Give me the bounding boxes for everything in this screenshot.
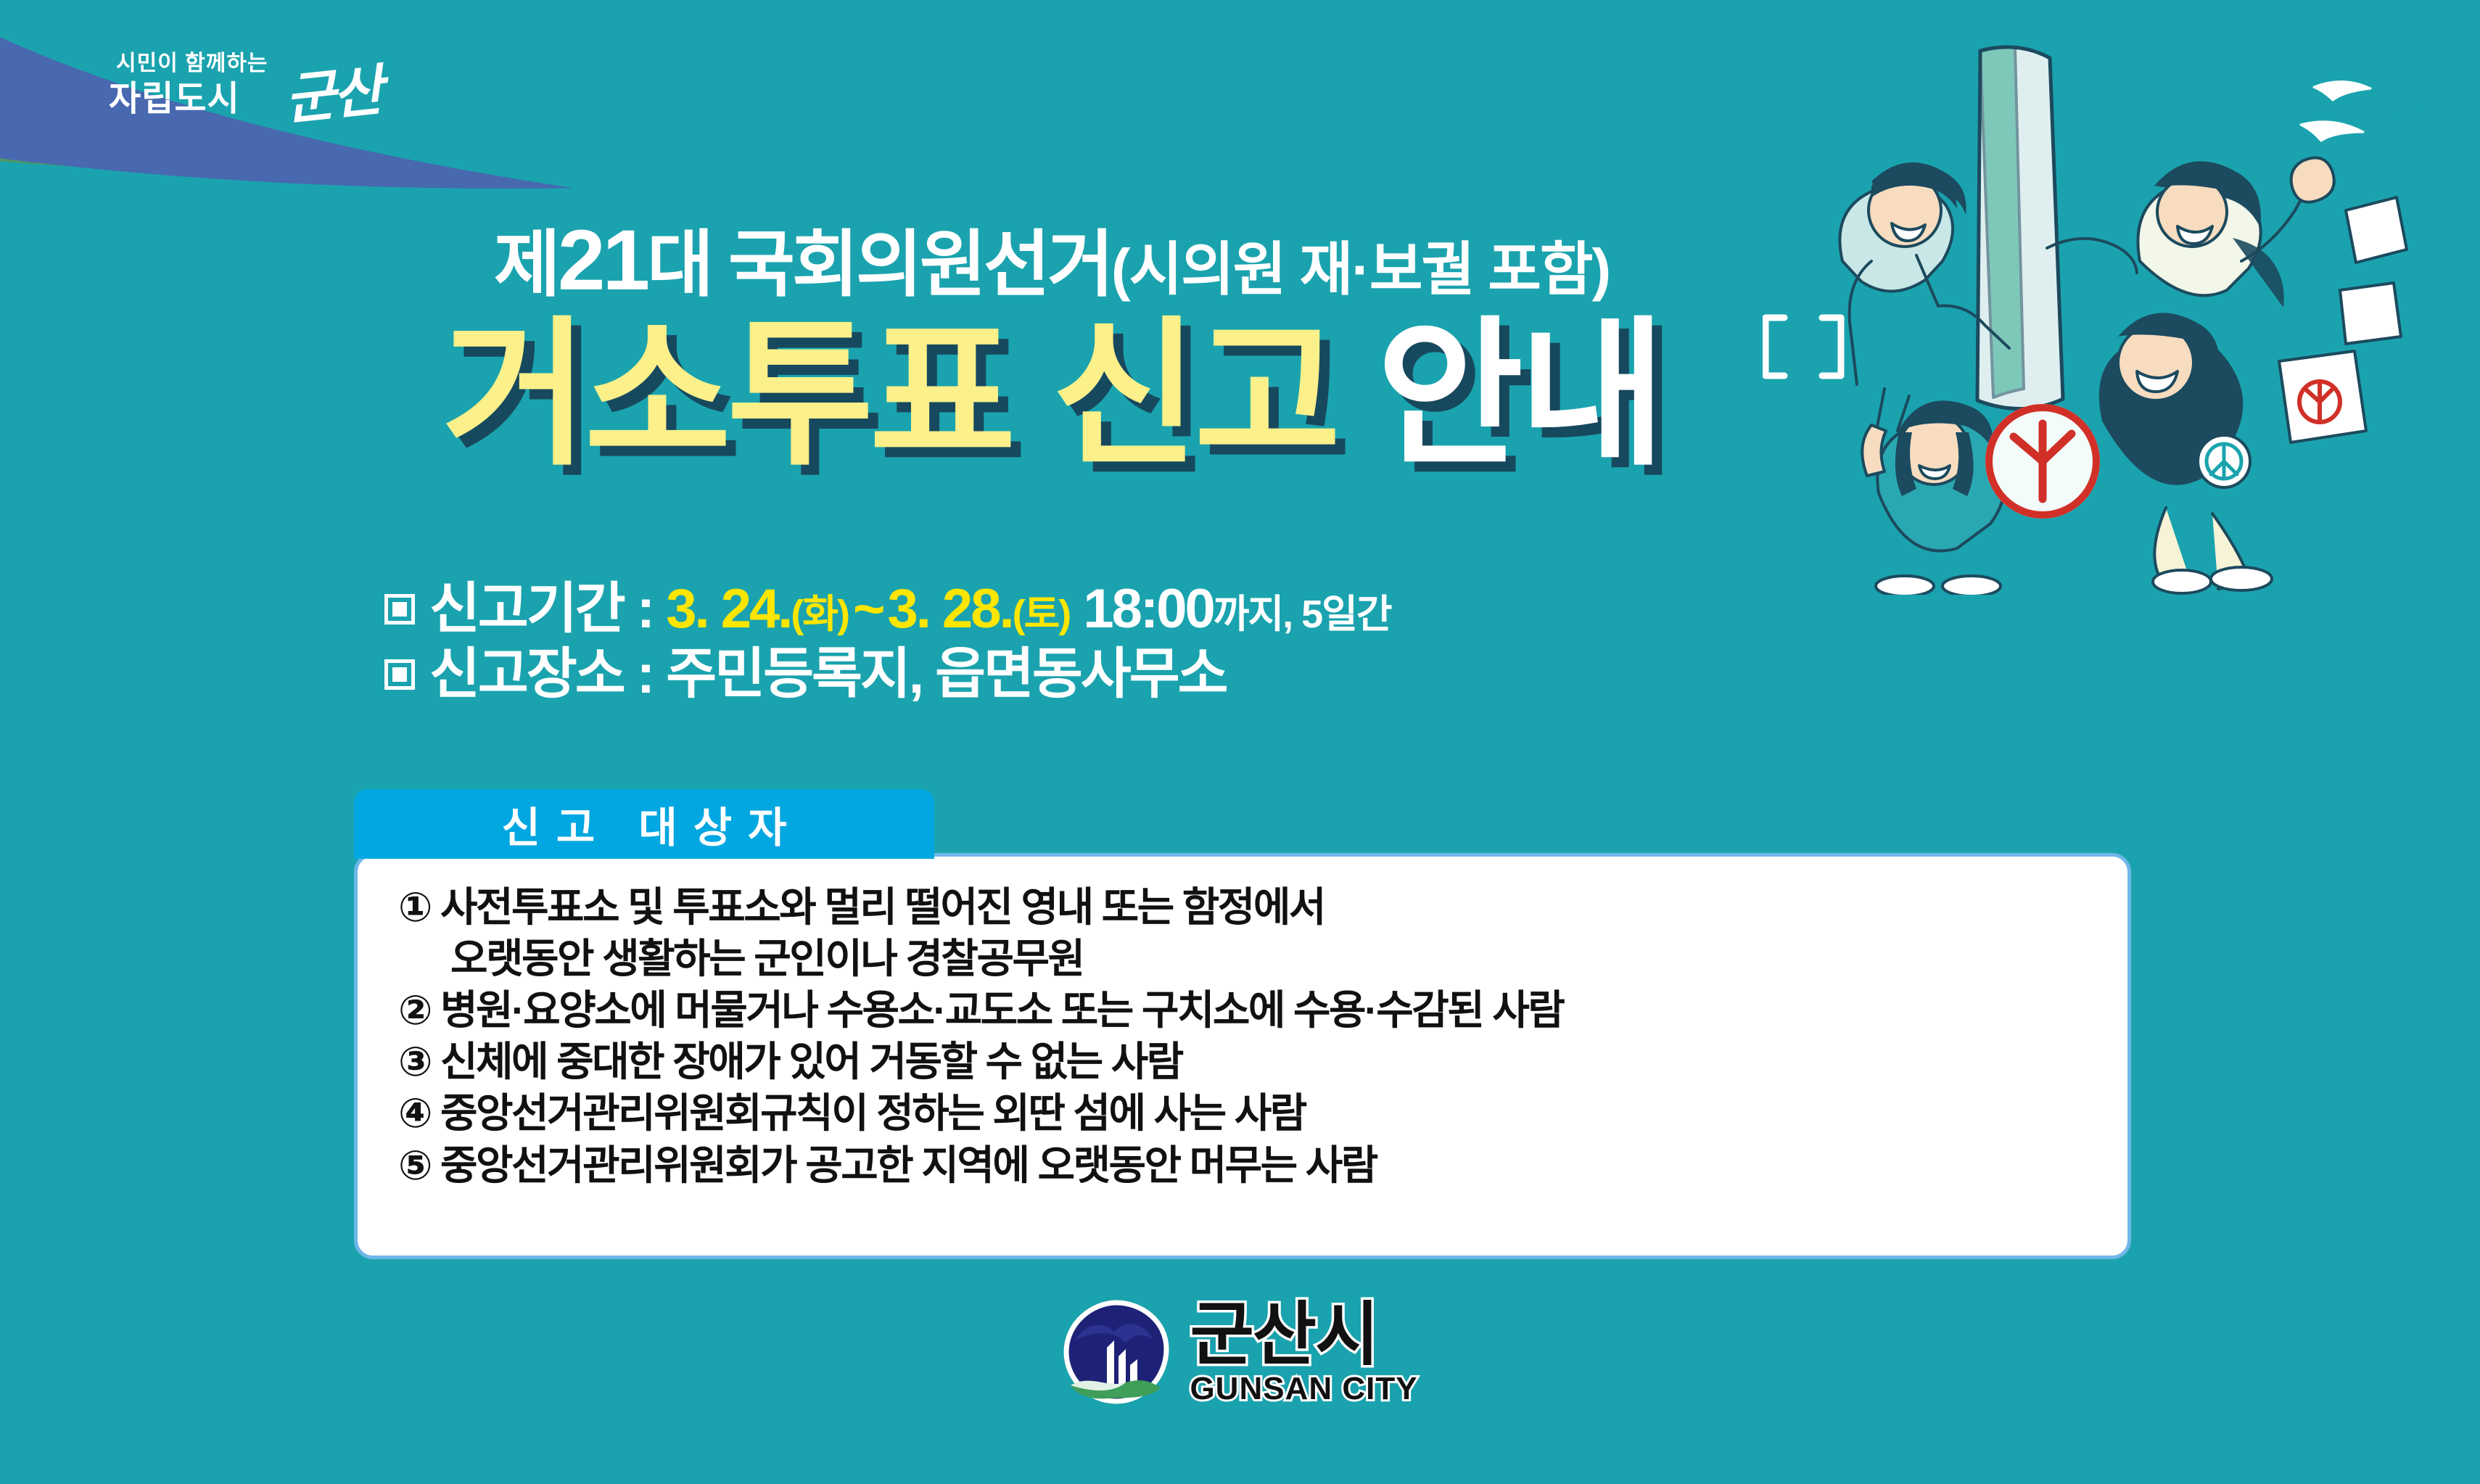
place-label: 신고장소 : [429,642,653,707]
list-item-text-cont: 오랫동안 생활하는 군인이나 경찰공무원 [398,933,2098,984]
list-item: ② 병원·요양소에 머물거나 수용소·교도소 또는 구치소에 수용·수감된 사람 [398,984,2098,1036]
list-item: ⑤ 중앙선거관리위원회가 공고한 지역에 오랫동안 머무는 사람 [398,1139,2098,1191]
square-bullet-icon [384,594,415,624]
headline-main-part3: 안내 [1377,305,1662,484]
list-item: ① 사전투표소 및 투표소와 멀리 떨어진 영내 또는 함정에서 오랫동안 생활… [398,881,2098,984]
period-start-date: 3. 24. [666,577,791,642]
list-item-text: 신체에 중대한 장애가 있어 거동할 수 없는 사람 [440,1039,1182,1084]
period-end-day: (토) [1013,592,1071,638]
gunsan-logo-en: GUNSAN CITY [1190,1373,1417,1405]
headline-main-part1: 거소투표 [442,305,1012,484]
gunsan-ci-logo: 시민이 함께하는 자립도시 군산 [109,45,421,132]
poster-root: 시민이 함께하는 자립도시 군산 [0,0,2480,1484]
period-label: 신고기간 : [429,577,653,642]
headline-sub-mid: 대 국회의원선거 [647,224,1111,305]
headline-main-part2: 신고 [1052,305,1337,484]
character-boy-varsity [2101,313,2272,593]
info-block: 신고기간 : 3. 24.(화) ~ 3. 28.(토) 18:00까지, 5일… [384,577,2198,706]
period-range-mark: ~ [849,577,887,642]
place-value: 주민등록지, 읍면동사무소 [666,642,1226,707]
list-item-text: 중앙선거관리위원회규칙이 정하는 외딴 섬에 사는 사람 [440,1090,1306,1136]
square-bullet-icon [384,659,415,690]
list-item-number: ⑤ [398,1142,431,1188]
headline-block: 제21대 국회의원선거(시의원 재·보궐 포함) 거소투표 신고 안내 [0,218,2104,474]
info-row-place: 신고장소 : 주민등록지, 읍면동사무소 [384,642,2198,707]
ci-wordmark: 군산 [281,46,384,135]
info-row-period: 신고기간 : 3. 24.(화) ~ 3. 28.(토) 18:00까지, 5일… [384,577,2198,642]
headline-sub-paren: (시의원 재·보궐 포함) [1111,237,1610,302]
eligibility-list: ① 사전투표소 및 투표소와 멀리 떨어진 영내 또는 함정에서 오랫동안 생활… [398,881,2098,1191]
list-item-text: 중앙선거관리위원회가 공고한 지역에 오랫동안 머무는 사람 [440,1142,1377,1188]
gunsan-emblem-icon [1062,1298,1171,1407]
list-item-number: ④ [398,1090,431,1136]
flying-ballot-papers [2279,197,2407,442]
list-item-number: ③ [398,1039,431,1084]
card-tab-title: 신고 대상자 [354,789,934,859]
ci-city-text: 자립도시 [109,70,240,120]
list-item-number: ① [398,884,431,930]
list-item: ③ 신체에 중대한 장애가 있어 거동할 수 없는 사람 [398,1036,2098,1087]
eligibility-card: ① 사전투표소 및 투표소와 멀리 떨어진 영내 또는 함정에서 오랫동안 생활… [354,853,2131,1259]
list-item-number: ② [398,987,431,1033]
period-start-day: (화) [791,592,849,638]
headline-main: 거소투표 신고 안내 [0,315,2104,474]
headline-sub-prefix: 제 [494,224,558,305]
footer-logo-block: 군산시 GUNSAN CITY [0,1298,2480,1407]
period-time: 18:00 [1083,577,1213,642]
list-item-text: 사전투표소 및 투표소와 멀리 떨어진 영내 또는 함정에서 [440,884,1325,930]
list-item-text: 병원·요양소에 머물거나 수용소·교도소 또는 구치소에 수용·수감된 사람 [440,987,1563,1033]
period-end-date: 3. 28. [887,577,1012,642]
headline-subtitle: 제21대 국회의원선거(시의원 재·보궐 포함) [0,218,2104,303]
gunsan-logo-text: 군산시 GUNSAN CITY [1190,1300,1417,1405]
gunsan-logo-kr: 군산시 [1190,1300,1377,1370]
headline-election-number: 21 [558,213,647,308]
bird-icon [2301,81,2370,141]
list-item: ④ 중앙선거관리위원회규칙이 정하는 외딴 섬에 사는 사람 [398,1087,2098,1139]
period-tail: 까지, 5일간 [1214,592,1391,638]
